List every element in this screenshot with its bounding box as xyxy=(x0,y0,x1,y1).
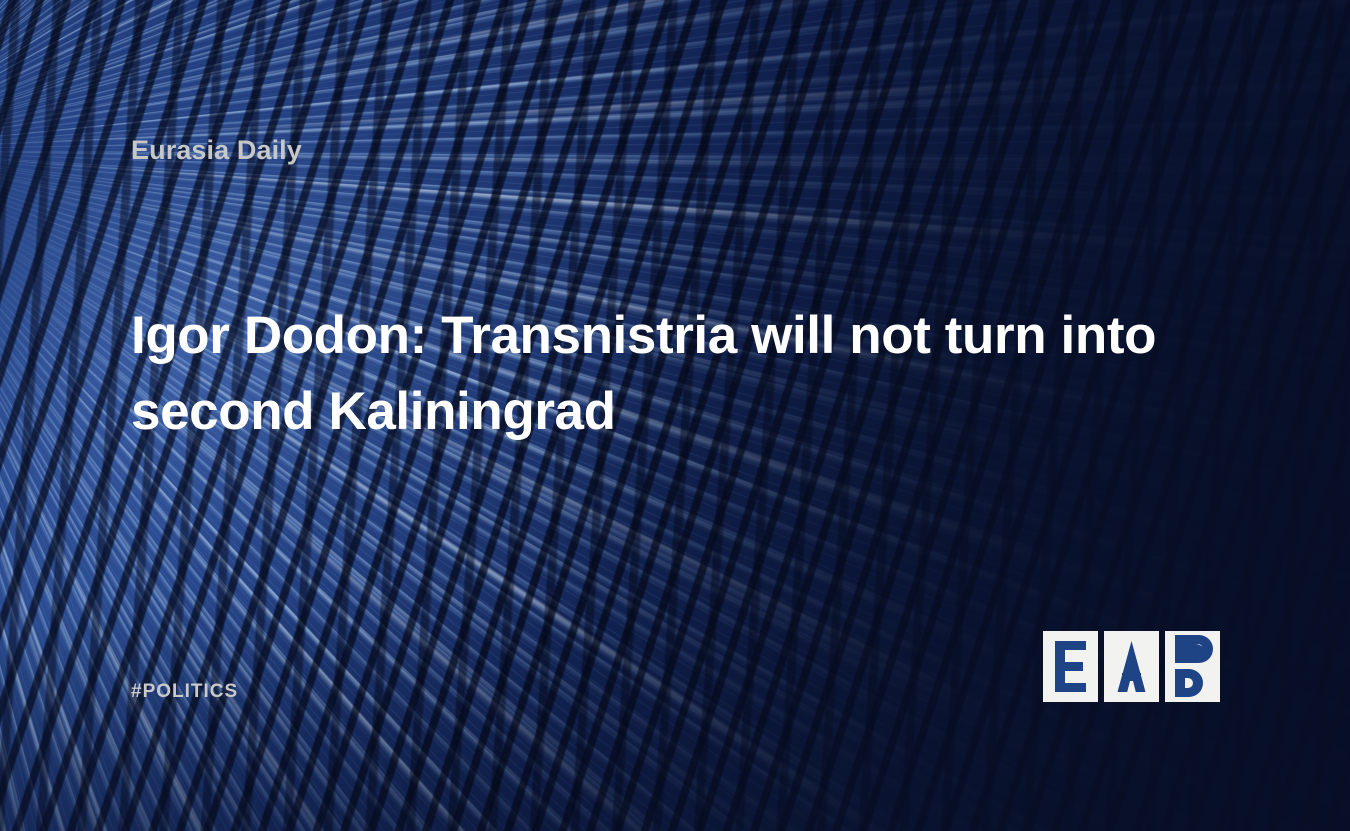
logo-tile-d xyxy=(1165,631,1220,702)
split-d-icon xyxy=(1165,631,1220,702)
logo-tile-e xyxy=(1043,631,1098,702)
article-share-card: Eurasia Daily Igor Dodon: Transnistria w… xyxy=(0,0,1350,831)
card-content: Eurasia Daily Igor Dodon: Transnistria w… xyxy=(0,0,1350,831)
logo-tile-a xyxy=(1104,631,1159,702)
publication-name: Eurasia Daily xyxy=(131,136,302,166)
letter-a-icon xyxy=(1104,631,1159,702)
category-tag[interactable]: #POLITICS xyxy=(131,681,238,703)
article-headline: Igor Dodon: Transnistria will not turn i… xyxy=(131,298,1191,450)
eadaily-logo[interactable] xyxy=(1043,631,1221,702)
letter-e-icon xyxy=(1043,631,1098,702)
